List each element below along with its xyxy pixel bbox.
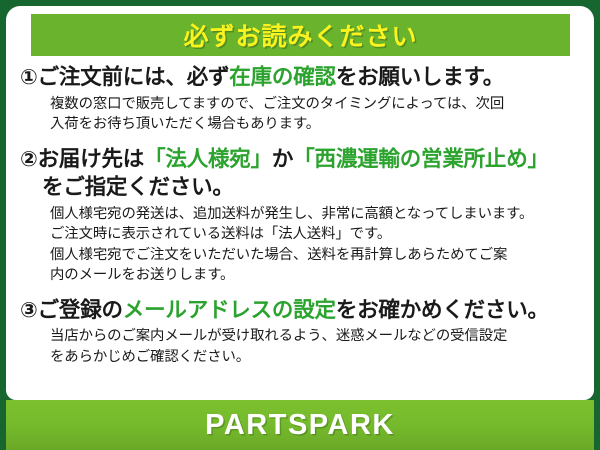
page-title: 必ずお読みください [183,17,417,53]
notice-item-2-heading-part-2: 「法人様宛」 [144,147,272,171]
notice-item-1-marker: ① [20,66,38,89]
notice-item-3: ③ご登録のメールアドレスの設定をお確かめください。 当店からのご案内メールが受け… [20,297,580,368]
notice-item-2-body-line-3: 個人様宅宛でご注文をいただいた場合、送料を再計算しあらためてご案 [50,245,580,265]
notice-item-2-marker: ② [20,148,38,171]
notice-item-2-body: 個人様宅宛の発送は、追加送料が発生し、非常に高額となってしまいます。ご注文時に表… [20,204,580,286]
notice-item-2-body-line-1: 個人様宅宛の発送は、追加送料が発生し、非常に高額となってしまいます。 [50,204,580,224]
notice-item-1-body-line-1: 複数の窓口で販売してますので、ご注文のタイミングによっては、次回 [50,94,580,114]
notice-item-3-heading-part-2: メールアドレスの設定 [123,298,336,322]
notice-item-2-heading-part-3: か [272,147,293,171]
notice-item-3-body-line-2: をあらかじめご確認ください。 [50,347,580,367]
notice-item-3-body-line-1: 当店からのご案内メールが受け取れるよう、迷惑メールなどの受信設定 [50,326,580,346]
notice-item-3-heading: ③ご登録のメールアドレスの設定をお確かめください。 [20,297,580,325]
notice-item-2-body-line-4: 内のメールをお送りします。 [50,265,580,285]
notice-item-2-heading-part-1: お届け先は [38,147,145,171]
brand-logo-text: PARTSPARK [205,409,395,442]
notice-item-2-heading-part-4: 「西濃運輸の営業所止め」 [293,147,549,171]
notice-item-1: ①ご注文前には、必ず在庫の確認をお願いします。 複数の窓口で販売してますので、ご… [20,64,580,135]
footer-bar: PARTSPARK [6,400,594,450]
notice-item-2-heading: ②お届け先は「法人様宛」か「西濃運輸の営業所止め」をご指定ください。 [20,146,580,202]
notice-item-1-body: 複数の窓口で販売してますので、ご注文のタイミングによっては、次回入荷をお待ち頂い… [20,94,580,135]
notice-item-2-body-line-2: ご注文時に表示されている送料は「法人送料」です。 [50,224,580,244]
notice-item-1-body-line-2: 入荷をお待ち頂いただく場合もあります。 [50,114,580,134]
notice-item-3-heading-part-3: をお確かめください。 [336,298,549,322]
header-banner: 必ずお読みください [31,14,570,56]
notice-panel: 必ずお読みください ①ご注文前には、必ず在庫の確認をお願いします。 複数の窓口で… [6,6,594,400]
notice-item-3-heading-part-1: ご登録の [38,298,123,322]
notice-item-1-heading-part-1: ご注文前には、必ず [38,65,230,89]
notice-item-2: ②お届け先は「法人様宛」か「西濃運輸の営業所止め」をご指定ください。 個人様宅宛… [20,146,580,286]
notice-item-1-heading-part-2: 在庫の確認 [229,65,336,89]
notice-item-1-heading-part-3: をお願いします。 [336,65,504,89]
notice-item-3-body: 当店からのご案内メールが受け取れるよう、迷惑メールなどの受信設定をあらかじめご確… [20,326,580,367]
notice-list: ①ご注文前には、必ず在庫の確認をお願いします。 複数の窓口で販売してますので、ご… [6,56,594,367]
notice-item-1-heading: ①ご注文前には、必ず在庫の確認をお願いします。 [20,64,580,92]
notice-card: 必ずお読みください ①ご注文前には、必ず在庫の確認をお願いします。 複数の窓口で… [0,0,600,450]
notice-item-2-heading-continuation: をご指定ください。 [20,174,580,202]
notice-item-3-marker: ③ [20,299,38,322]
